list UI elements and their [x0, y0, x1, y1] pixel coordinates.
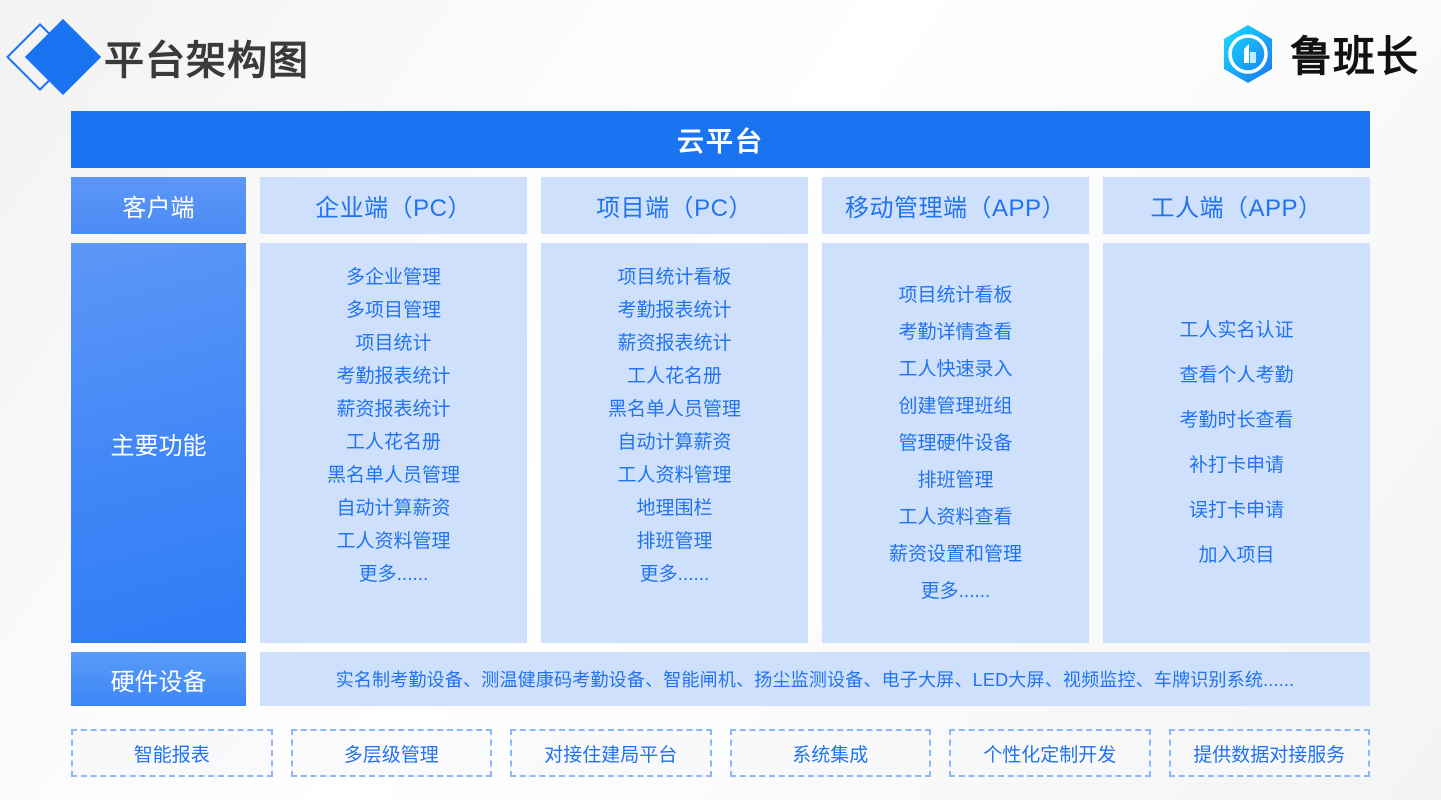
- architecture-diagram: 云平台 客户端 企业端（PC） 项目端（PC） 移动管理端（APP） 工人端（A…: [71, 111, 1370, 706]
- function-item[interactable]: 工人花名册: [627, 360, 722, 393]
- function-item[interactable]: 创建管理班组: [898, 388, 1012, 425]
- brand-name: 鲁班长: [1290, 36, 1419, 78]
- hexagon-building-icon: [1216, 22, 1280, 91]
- function-item-more[interactable]: 更多......: [640, 558, 710, 591]
- tag-custom-development[interactable]: 个性化定制开发: [949, 729, 1151, 777]
- function-item[interactable]: 考勤报表统计: [617, 294, 731, 327]
- tag-multilevel-management[interactable]: 多层级管理: [291, 729, 493, 777]
- function-item[interactable]: 黑名单人员管理: [608, 393, 741, 426]
- function-item[interactable]: 项目统计看板: [898, 277, 1012, 314]
- function-item[interactable]: 项目统计: [355, 327, 431, 360]
- page-title: 平台架构图: [104, 28, 309, 86]
- column-header-project[interactable]: 项目端（PC）: [541, 177, 808, 234]
- page-header: 平台架构图 鲁班长: [0, 0, 1441, 105]
- function-item-more[interactable]: 更多......: [359, 558, 429, 591]
- function-item[interactable]: 考勤详情查看: [898, 314, 1012, 351]
- main-functions-row: 主要功能 多企业管理 多项目管理 项目统计 考勤报表统计 薪资报表统计 工人花名…: [71, 243, 1370, 643]
- client-header-row: 客户端 企业端（PC） 项目端（PC） 移动管理端（APP） 工人端（APP）: [71, 177, 1370, 234]
- function-item[interactable]: 薪资设置和管理: [889, 536, 1022, 573]
- side-label-hardware: 硬件设备: [71, 652, 246, 706]
- column-header-worker[interactable]: 工人端（APP）: [1103, 177, 1370, 234]
- side-label-client: 客户端: [71, 177, 246, 234]
- function-item[interactable]: 加入项目: [1198, 533, 1274, 578]
- function-item[interactable]: 工人资料管理: [336, 525, 450, 558]
- function-item[interactable]: 薪资报表统计: [336, 393, 450, 426]
- function-item[interactable]: 工人实名认证: [1179, 308, 1293, 353]
- function-item[interactable]: 排班管理: [636, 525, 712, 558]
- function-item[interactable]: 多项目管理: [346, 294, 441, 327]
- function-item[interactable]: 工人快速录入: [898, 351, 1012, 388]
- hardware-row: 硬件设备 实名制考勤设备、测温健康码考勤设备、智能闸机、扬尘监测设备、电子大屏、…: [71, 652, 1370, 706]
- function-item[interactable]: 考勤时长查看: [1179, 398, 1293, 443]
- side-label-main-functions: 主要功能: [71, 243, 246, 643]
- function-item[interactable]: 地理围栏: [636, 492, 712, 525]
- column-header-enterprise[interactable]: 企业端（PC）: [260, 177, 527, 234]
- cloud-platform-bar: 云平台: [71, 111, 1370, 168]
- function-item[interactable]: 工人资料查看: [898, 499, 1012, 536]
- tag-data-integration-service[interactable]: 提供数据对接服务: [1169, 729, 1371, 777]
- platform-architecture-page: 平台架构图 鲁班长 云平台: [0, 0, 1441, 800]
- capability-tag-row: 智能报表 多层级管理 对接住建局平台 系统集成 个性化定制开发 提供数据对接服务: [71, 729, 1370, 777]
- function-item-more[interactable]: 更多......: [921, 573, 991, 610]
- function-item[interactable]: 多企业管理: [346, 261, 441, 294]
- tag-smart-report[interactable]: 智能报表: [71, 729, 273, 777]
- tag-housing-bureau-platform[interactable]: 对接住建局平台: [510, 729, 712, 777]
- column-body-worker: 工人实名认证 查看个人考勤 考勤时长查看 补打卡申请 误打卡申请 加入项目: [1103, 243, 1370, 643]
- function-item[interactable]: 薪资报表统计: [617, 327, 731, 360]
- function-item[interactable]: 查看个人考勤: [1179, 353, 1293, 398]
- diamond-logo-icon: [4, 18, 104, 96]
- hardware-device-list: 实名制考勤设备、测温健康码考勤设备、智能闸机、扬尘监测设备、电子大屏、LED大屏…: [260, 652, 1370, 706]
- function-item[interactable]: 补打卡申请: [1189, 443, 1284, 488]
- function-item[interactable]: 考勤报表统计: [336, 360, 450, 393]
- column-body-project: 项目统计看板 考勤报表统计 薪资报表统计 工人花名册 黑名单人员管理 自动计算薪…: [541, 243, 808, 643]
- column-body-mobile-admin: 项目统计看板 考勤详情查看 工人快速录入 创建管理班组 管理硬件设备 排班管理 …: [822, 243, 1089, 643]
- function-item[interactable]: 自动计算薪资: [617, 426, 731, 459]
- function-item[interactable]: 自动计算薪资: [336, 492, 450, 525]
- function-item[interactable]: 误打卡申请: [1189, 488, 1284, 533]
- brand-logo: 鲁班长: [1216, 22, 1419, 91]
- function-item[interactable]: 管理硬件设备: [898, 425, 1012, 462]
- column-header-mobile-admin[interactable]: 移动管理端（APP）: [822, 177, 1089, 234]
- column-body-enterprise: 多企业管理 多项目管理 项目统计 考勤报表统计 薪资报表统计 工人花名册 黑名单…: [260, 243, 527, 643]
- function-item[interactable]: 工人资料管理: [617, 459, 731, 492]
- function-item[interactable]: 排班管理: [917, 462, 993, 499]
- function-item[interactable]: 黑名单人员管理: [327, 459, 460, 492]
- tag-system-integration[interactable]: 系统集成: [730, 729, 932, 777]
- function-item[interactable]: 工人花名册: [346, 426, 441, 459]
- function-item[interactable]: 项目统计看板: [617, 261, 731, 294]
